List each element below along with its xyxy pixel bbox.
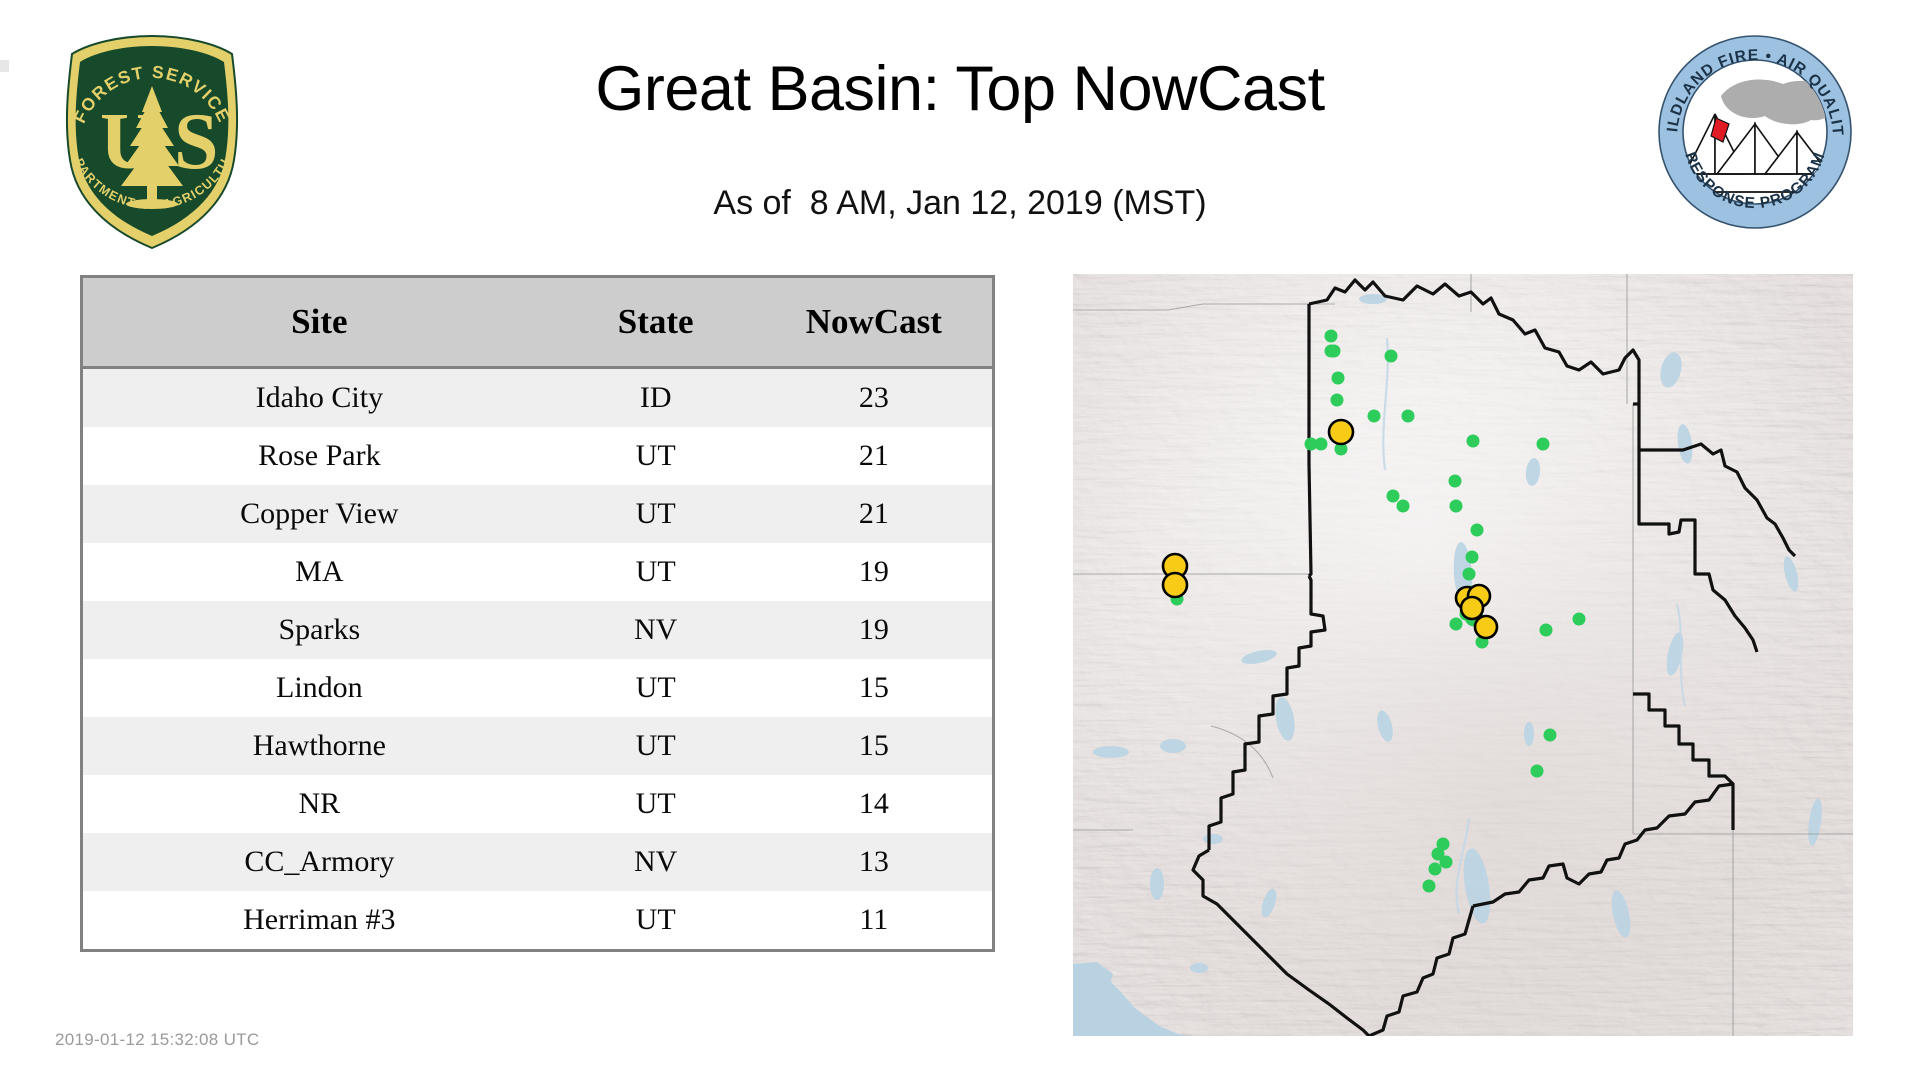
cell-state: UT: [556, 717, 756, 775]
cell-site: Herriman #3: [83, 891, 556, 949]
monitor-marker-good[interactable]: [1429, 863, 1442, 876]
cell-nowcast: 21: [756, 485, 992, 543]
monitor-marker-good[interactable]: [1397, 500, 1410, 513]
cell-site: Sparks: [83, 601, 556, 659]
cell-site: Hawthorne: [83, 717, 556, 775]
page-subtitle: As of 8 AM, Jan 12, 2019 (MST): [0, 186, 1920, 220]
monitor-marker-good[interactable]: [1449, 475, 1462, 488]
monitor-marker-good[interactable]: [1450, 500, 1463, 513]
column-header-nowcast[interactable]: NowCast: [756, 278, 992, 368]
page-title: Great Basin: Top NowCast: [0, 58, 1920, 121]
table-row[interactable]: Rose ParkUT21: [83, 427, 992, 485]
monitor-marker-good[interactable]: [1471, 524, 1484, 537]
column-header-state[interactable]: State: [556, 278, 756, 368]
table-row[interactable]: LindonUT15: [83, 659, 992, 717]
monitor-marker-good[interactable]: [1450, 618, 1463, 631]
cell-site: Copper View: [83, 485, 556, 543]
monitor-marker-good[interactable]: [1531, 765, 1544, 778]
monitor-marker-good[interactable]: [1540, 624, 1553, 637]
table-row[interactable]: Copper ViewUT21: [83, 485, 992, 543]
great-basin-monitor-map[interactable]: [1073, 274, 1853, 1036]
monitor-marker-good[interactable]: [1573, 613, 1586, 626]
monitor-marker-good[interactable]: [1402, 410, 1415, 423]
table-row[interactable]: Idaho CityID23: [83, 368, 992, 428]
cell-state: UT: [556, 775, 756, 833]
cell-state: NV: [556, 833, 756, 891]
table-header-row: Site State NowCast: [83, 278, 992, 368]
table-row[interactable]: HawthorneUT15: [83, 717, 992, 775]
cell-nowcast: 13: [756, 833, 992, 891]
table-row[interactable]: MAUT19: [83, 543, 992, 601]
cell-nowcast: 15: [756, 659, 992, 717]
monitor-marker-good[interactable]: [1325, 345, 1338, 358]
cell-nowcast: 19: [756, 543, 992, 601]
cell-site: Lindon: [83, 659, 556, 717]
cell-state: UT: [556, 659, 756, 717]
cell-nowcast: 21: [756, 427, 992, 485]
monitor-marker-moderate[interactable]: [1461, 597, 1483, 619]
footer-timestamp: 2019-01-12 15:32:08 UTC: [55, 1030, 259, 1050]
cell-state: UT: [556, 891, 756, 949]
monitor-marker-moderate[interactable]: [1163, 573, 1187, 597]
monitor-marker-good[interactable]: [1331, 394, 1344, 407]
cell-nowcast: 23: [756, 368, 992, 428]
cell-state: UT: [556, 485, 756, 543]
table-row[interactable]: SparksNV19: [83, 601, 992, 659]
monitor-marker-good[interactable]: [1544, 729, 1557, 742]
monitor-marker-good[interactable]: [1387, 490, 1400, 503]
monitor-marker-good[interactable]: [1467, 435, 1480, 448]
monitor-marker-moderate[interactable]: [1475, 616, 1497, 638]
column-header-site[interactable]: Site: [83, 278, 556, 368]
cell-state: UT: [556, 427, 756, 485]
monitor-marker-moderate[interactable]: [1329, 420, 1353, 444]
table-row[interactable]: Herriman #3UT11: [83, 891, 992, 949]
monitor-marker-good[interactable]: [1385, 350, 1398, 363]
table-row[interactable]: NRUT14: [83, 775, 992, 833]
monitor-marker-good[interactable]: [1537, 438, 1550, 451]
map-svg: [1073, 274, 1853, 1036]
cell-state: UT: [556, 543, 756, 601]
cell-site: Idaho City: [83, 368, 556, 428]
monitor-marker-good[interactable]: [1315, 438, 1328, 451]
map-relief-dark: [1073, 274, 1853, 1036]
monitor-marker-good[interactable]: [1368, 410, 1381, 423]
monitor-marker-good[interactable]: [1440, 856, 1453, 869]
cell-nowcast: 11: [756, 891, 992, 949]
cell-nowcast: 15: [756, 717, 992, 775]
cell-site: Rose Park: [83, 427, 556, 485]
cell-nowcast: 14: [756, 775, 992, 833]
monitor-marker-good[interactable]: [1423, 880, 1436, 893]
monitor-marker-good[interactable]: [1332, 372, 1345, 385]
cell-state: ID: [556, 368, 756, 428]
table-row[interactable]: CC_ArmoryNV13: [83, 833, 992, 891]
nowcast-table: Site State NowCast Idaho CityID23Rose Pa…: [83, 278, 992, 949]
monitor-marker-good[interactable]: [1466, 551, 1479, 564]
cell-site: MA: [83, 543, 556, 601]
cell-site: NR: [83, 775, 556, 833]
cell-site: CC_Armory: [83, 833, 556, 891]
monitor-marker-good[interactable]: [1463, 568, 1476, 581]
nowcast-table-container: Site State NowCast Idaho CityID23Rose Pa…: [80, 275, 995, 952]
table-body: Idaho CityID23Rose ParkUT21Copper ViewUT…: [83, 368, 992, 950]
cell-state: NV: [556, 601, 756, 659]
monitor-marker-good[interactable]: [1325, 330, 1338, 343]
cell-nowcast: 19: [756, 601, 992, 659]
